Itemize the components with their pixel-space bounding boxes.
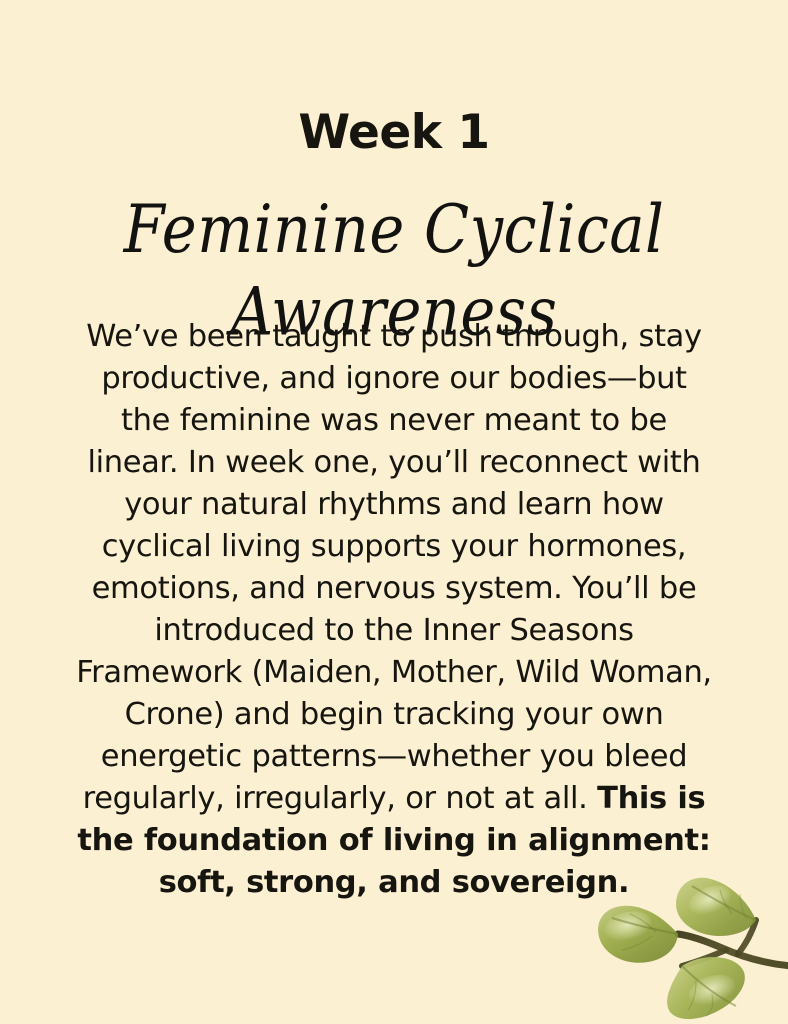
leaf-left: [598, 906, 678, 963]
body-paragraph: We’ve been taught to push through, stay …: [74, 316, 714, 904]
page-title: Week 1: [0, 107, 788, 159]
poster-page: Week 1 Feminine Cyclical Awareness We’ve…: [0, 0, 788, 1024]
leaf-bottom: [667, 957, 745, 1019]
body-lead-text: We’ve been taught to push through, stay …: [76, 319, 712, 816]
